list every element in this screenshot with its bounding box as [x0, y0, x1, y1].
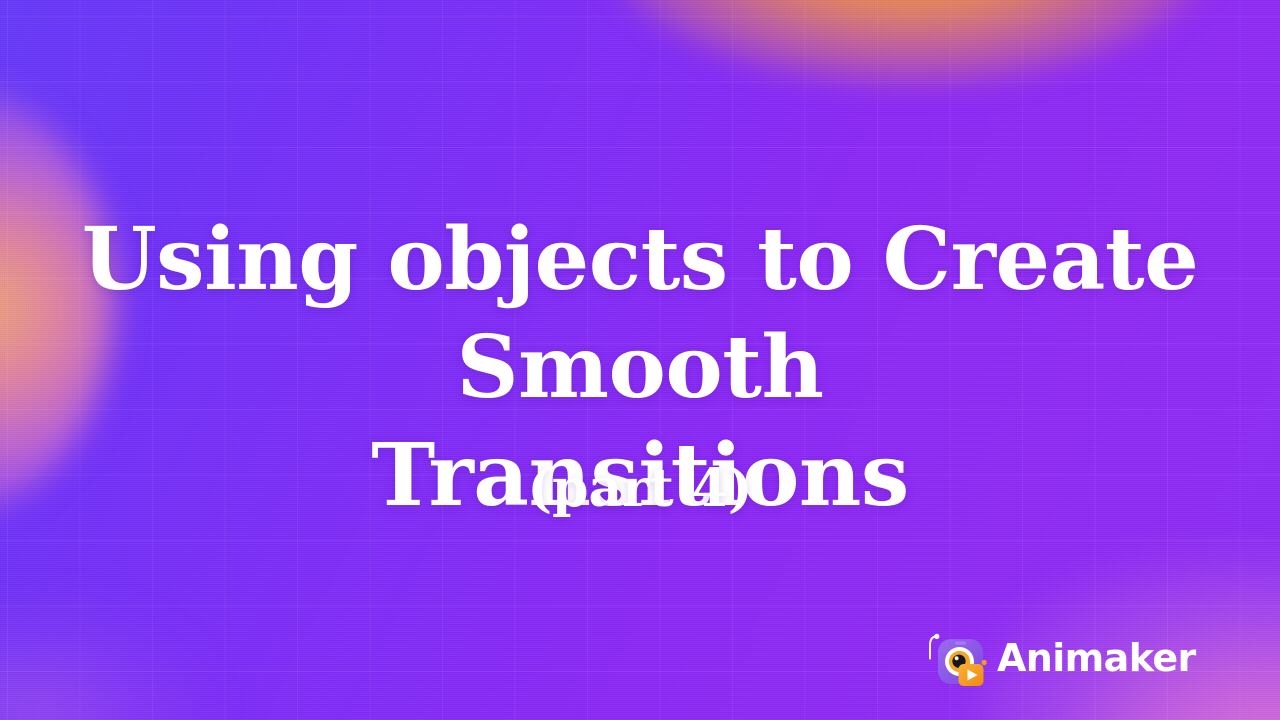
- animaker-wordmark: Animaker: [997, 639, 1196, 677]
- title-slide: Using objects to Create Smooth Transitio…: [0, 0, 1280, 720]
- slide-content: Using objects to Create Smooth Transitio…: [0, 0, 1280, 720]
- animaker-logo: Animaker: [925, 624, 1165, 690]
- slide-subtitle: (part 4): [0, 458, 1280, 520]
- play-icon: [959, 664, 984, 686]
- animaker-robot-eye-icon: [925, 626, 987, 688]
- antenna-icon: [930, 634, 939, 659]
